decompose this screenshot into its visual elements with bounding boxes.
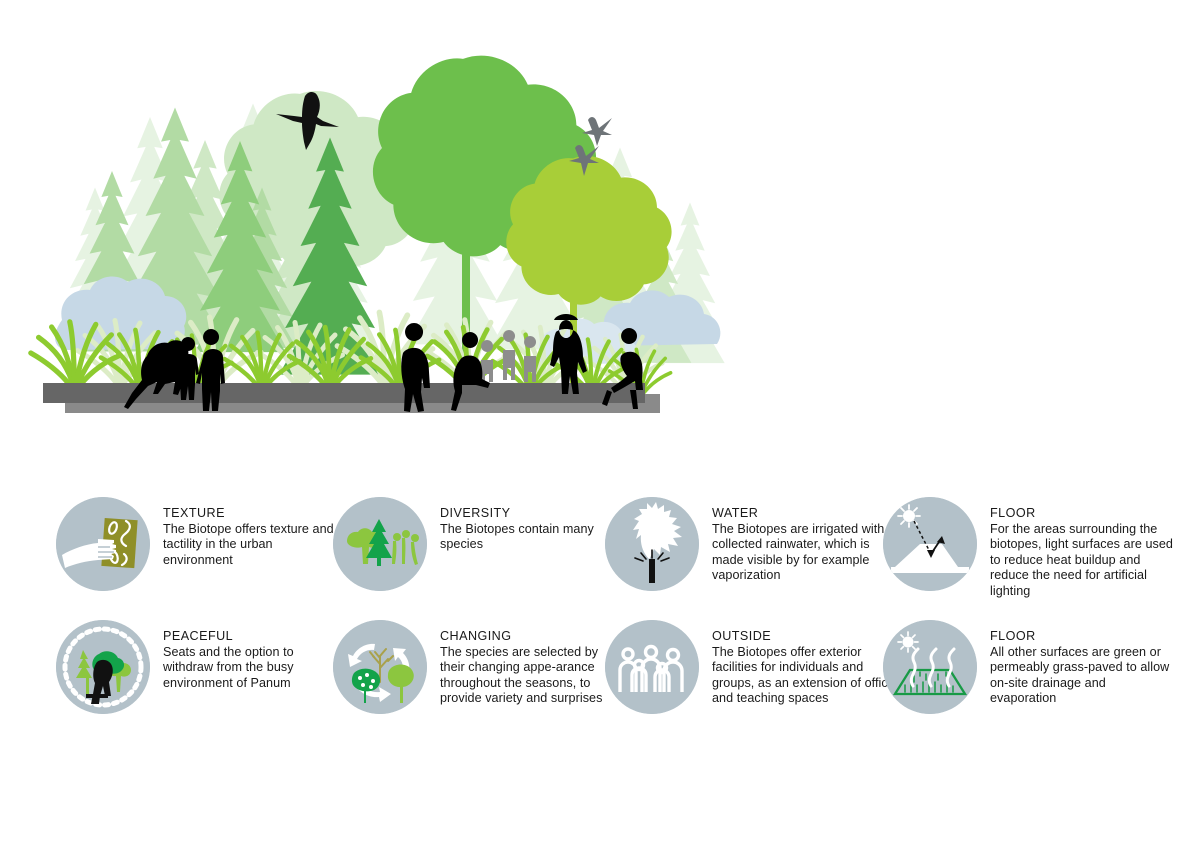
hand-texture-icon [56, 497, 150, 591]
feature-text-outside: OUTSIDE The Biotopes offer exterior faci… [712, 620, 897, 707]
feature-icon-grid: TEXTURE The Biotope offers texture and t… [0, 480, 1191, 740]
sun-reflection-floor-icon [883, 497, 977, 591]
feature-text-water: WATER The Biotopes are irrigated with co… [712, 497, 887, 584]
feature-title: TEXTURE [163, 506, 338, 522]
feature-title: FLOOR [990, 629, 1175, 645]
feature-title: PEACEFUL [163, 629, 338, 645]
feature-title: DIVERSITY [440, 506, 615, 522]
feature-outside[interactable]: OUTSIDE The Biotopes offer exterior faci… [605, 620, 897, 714]
feature-text-changing: CHANGING The species are selected by the… [440, 620, 625, 707]
concept-board: TEXTURE The Biotope offers texture and t… [0, 0, 1191, 842]
feature-body: The Biotopes are irrigated with collecte… [712, 522, 887, 584]
feature-floor-green[interactable]: FLOOR All other surfaces are green or pe… [883, 620, 1175, 714]
feature-changing[interactable]: CHANGING The species are selected by the… [333, 620, 625, 714]
feature-title: OUTSIDE [712, 629, 897, 645]
feature-body: Seats and the option to withdraw from th… [163, 645, 338, 692]
biotope-section-illustration [0, 0, 760, 430]
feature-body: The species are selected by their changi… [440, 645, 625, 707]
feature-body: All other surfaces are green or permeabl… [990, 645, 1175, 707]
feature-text-floor-light: FLOOR For the areas surrounding the biot… [990, 497, 1175, 600]
feature-title: FLOOR [990, 506, 1175, 522]
seasonal-cycle-icon [333, 620, 427, 714]
grass-evaporation-icon [883, 620, 977, 714]
feature-text-floor-green: FLOOR All other surfaces are green or pe… [990, 620, 1175, 707]
scene-svg [0, 0, 760, 430]
feature-body: The Biotopes contain many species [440, 522, 615, 553]
feature-body: The Biotopes offer exterior facilities f… [712, 645, 897, 707]
feature-water[interactable]: WATER The Biotopes are irrigated with co… [605, 497, 887, 591]
seated-person-garden-icon [56, 620, 150, 714]
feature-text-peaceful: PEACEFUL Seats and the option to withdra… [163, 620, 338, 691]
plant-species-icon [333, 497, 427, 591]
feature-floor-light[interactable]: FLOOR For the areas surrounding the biot… [883, 497, 1175, 600]
feature-title: WATER [712, 506, 887, 522]
feature-text-texture: TEXTURE The Biotope offers texture and t… [163, 497, 338, 568]
feature-text-diversity: DIVERSITY The Biotopes contain many spec… [440, 497, 615, 553]
people-group-icon [605, 620, 699, 714]
feature-title: CHANGING [440, 629, 625, 645]
feature-peaceful[interactable]: PEACEFUL Seats and the option to withdra… [56, 620, 338, 714]
feature-body: The Biotope offers texture and tactility… [163, 522, 338, 569]
feature-texture[interactable]: TEXTURE The Biotope offers texture and t… [56, 497, 338, 591]
feature-body: For the areas surrounding the biotopes, … [990, 522, 1175, 600]
feature-diversity[interactable]: DIVERSITY The Biotopes contain many spec… [333, 497, 615, 591]
water-spray-icon [605, 497, 699, 591]
